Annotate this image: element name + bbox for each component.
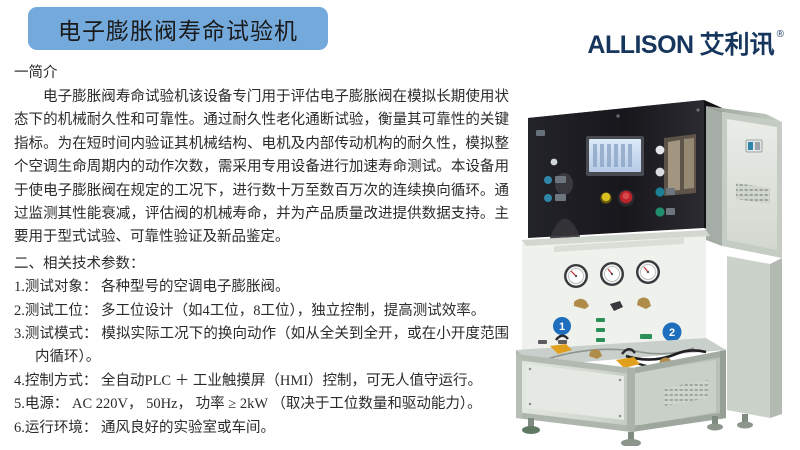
spec-value: 模拟实际工况下的换向动作（如从全关到全开，或在小开度范围内循环）。 <box>35 326 509 365</box>
spec-index: 1. <box>14 279 25 295</box>
spec-index: 5. <box>14 396 25 412</box>
spec-index: 2. <box>14 303 25 319</box>
machine-illustration: 1 2 <box>514 88 800 446</box>
indicator-light-teal <box>655 187 664 196</box>
screw-icon <box>529 403 532 406</box>
station-badge-1: 1 <box>553 317 571 335</box>
list-item: 5.电源： AC 220V， 50Hz， 功率 ≥ 2kW （取决于工位数量和驱… <box>14 393 509 416</box>
pressure-gauge-1 <box>564 264 588 288</box>
spec-value: 多工位设计（如4工位，8工位），独立控制，提高测试效率。 <box>101 303 485 319</box>
grey-fitting <box>558 340 567 344</box>
screw-icon <box>616 114 619 117</box>
green-valve <box>596 328 605 332</box>
spec-index: 3. <box>14 326 25 342</box>
grey-fitting <box>538 340 547 344</box>
spec-label: 电源： <box>25 396 69 412</box>
station-badge-2: 2 <box>663 323 682 342</box>
spec-label: 测试工位： <box>25 303 98 319</box>
page-title: 电子膨胀阀寿命试验机 <box>58 12 298 46</box>
button-blue-left-2[interactable] <box>544 194 552 202</box>
spec-value: AC 220V， 50Hz， 功率 ≥ 2kW （取决于工位数量和驱动能力）。 <box>72 396 482 412</box>
spec-label: 控制方式： <box>25 373 98 389</box>
indicator-light-green <box>655 207 664 216</box>
button-blue-left[interactable] <box>544 176 552 184</box>
station-badge-1-label: 1 <box>559 321 565 333</box>
page-title-banner: 电子膨胀阀寿命试验机 <box>28 7 328 50</box>
hmi-touchscreen[interactable] <box>586 136 644 176</box>
screw-icon <box>619 379 622 382</box>
button-label <box>555 176 566 183</box>
specs-heading: 二、相关技术参数： <box>14 253 509 276</box>
green-valve <box>640 334 652 339</box>
intro-heading: 一简介 <box>14 62 509 85</box>
start-button-yellow[interactable] <box>600 192 611 203</box>
panel-label <box>536 130 545 136</box>
spec-value: 各种型号的空调电子膨胀阀。 <box>101 279 290 295</box>
content-text-column: 一简介 电子膨胀阀寿命试验机该设备专门用于评估电子膨胀阀在模拟长期使用状态下的机… <box>14 62 509 440</box>
pressure-gauge-3 <box>636 260 660 284</box>
button-label <box>555 194 566 201</box>
foot-cabinet <box>737 414 753 429</box>
pressure-gauge-2 <box>600 262 624 286</box>
emergency-stop-button[interactable] <box>618 190 635 207</box>
spec-label: 测试对象： <box>25 279 98 295</box>
spec-index: 6. <box>14 420 25 436</box>
spec-index: 4. <box>14 373 25 389</box>
list-item: 4.控制方式： 全自动PLC ＋ 工业触摸屏（HMI）控制，可无人值守运行。 <box>14 370 509 393</box>
gauge-board: 1 2 <box>522 230 710 350</box>
foot-center <box>621 432 641 446</box>
screw-icon <box>696 108 699 111</box>
screw-icon <box>529 368 532 371</box>
list-item: 6.运行环境： 通风良好的实验室或车间。 <box>14 417 509 440</box>
green-valve <box>596 318 605 322</box>
indicator-label <box>666 188 675 195</box>
list-item: 1.测试对象： 各种型号的空调电子膨胀阀。 <box>14 276 509 299</box>
list-item: 2.测试工位： 多工位设计（如4工位，8工位），独立控制，提高测试效率。 <box>14 300 509 323</box>
cabinet-meter <box>746 140 762 152</box>
brand-logo: ALLISON 艾利讯 ® <box>587 33 784 58</box>
indicator-light-white-right <box>656 146 665 155</box>
indicator-light-white <box>551 159 558 166</box>
control-enclosure <box>528 100 722 240</box>
logo-chinese-name: 艾利讯 <box>700 33 775 58</box>
spec-label: 测试模式： <box>25 326 98 342</box>
intro-paragraph: 电子膨胀阀寿命试验机该设备专门用于评估电子膨胀阀在模拟长期使用状态下的机械耐久性… <box>14 86 509 250</box>
indicator-label <box>666 208 675 215</box>
green-valve <box>596 338 605 342</box>
logo-wordmark: ALLISON <box>587 33 693 58</box>
list-item: 3.测试模式： 模拟实际工况下的换向动作（如从全关到全开，或在小开度范围内循环）… <box>14 323 509 370</box>
spec-label: 运行环境： <box>25 420 98 436</box>
spec-value: 通风良好的实验室或车间。 <box>101 420 275 436</box>
registered-trademark-icon: ® <box>777 29 784 40</box>
screw-icon <box>619 415 622 418</box>
indicator-light-grey-right <box>656 168 665 177</box>
specs-list: 1.测试对象： 各种型号的空调电子膨胀阀。 2.测试工位： 多工位设计（如4工位… <box>14 276 509 440</box>
machine-photo: 1 2 <box>514 88 800 446</box>
slide-page: 电子膨胀阀寿命试验机 ALLISON 艾利讯 ® 一简介 电子膨胀阀寿命试验机该… <box>0 0 800 450</box>
spec-value: 全自动PLC ＋ 工业触摸屏（HMI）控制，可无人值守运行。 <box>101 373 482 389</box>
station-badge-2-label: 2 <box>669 327 675 339</box>
